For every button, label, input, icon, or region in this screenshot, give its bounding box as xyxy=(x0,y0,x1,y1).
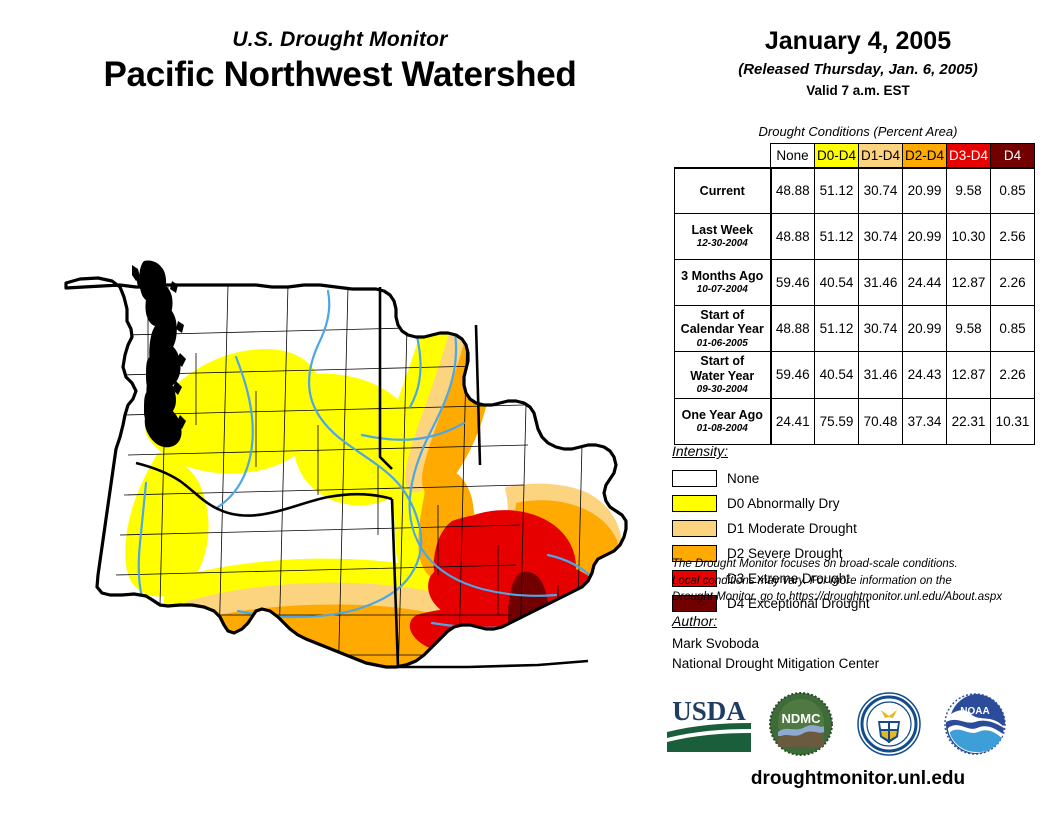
table-cell-d3-d4: 9.58 xyxy=(947,168,991,214)
table-column-header-none: None xyxy=(771,144,815,168)
table-row-label: One Year Ago01-08-2004 xyxy=(675,398,771,444)
table-row: One Year Ago01-08-200424.4175.5970.4837.… xyxy=(675,398,1035,444)
author-label: Author: xyxy=(672,613,717,629)
table-cell-d4: 0.85 xyxy=(991,168,1035,214)
table-cell-d1-d4: 31.46 xyxy=(859,260,903,306)
table-cell-none: 48.88 xyxy=(771,168,815,214)
table-cell-d1-d4: 70.48 xyxy=(859,398,903,444)
legend-column-left: NoneD0 Abnormally DryD1 Moderate Drought xyxy=(672,466,864,541)
table-cell-d0-d4: 51.12 xyxy=(815,214,859,260)
table-cell-none: 24.41 xyxy=(771,398,815,444)
table-cell-d4: 2.26 xyxy=(991,260,1035,306)
table-row-label: Start ofWater Year09-30-2004 xyxy=(675,352,771,398)
table-cell-d4: 2.56 xyxy=(991,214,1035,260)
table-corner-cell xyxy=(675,144,771,168)
table-cell-d0-d4: 51.12 xyxy=(815,168,859,214)
table-cell-none: 59.46 xyxy=(771,352,815,398)
table-cell-d3-d4: 22.31 xyxy=(947,398,991,444)
legend-swatch xyxy=(672,520,717,537)
author-org: National Drought Mitigation Center xyxy=(672,654,1056,674)
agency-logos: USDA NDMC xyxy=(665,692,1056,758)
table-cell-d3-d4: 9.58 xyxy=(947,306,991,352)
table-cell-d1-d4: 30.74 xyxy=(859,214,903,260)
legend-item: D1 Moderate Drought xyxy=(672,516,864,541)
table-cell-d0-d4: 40.54 xyxy=(815,352,859,398)
table-cell-d1-d4: 30.74 xyxy=(859,168,903,214)
table-cell-d3-d4: 10.30 xyxy=(947,214,991,260)
row-label-date: 09-30-2004 xyxy=(679,384,766,396)
row-label-name: One Year Ago xyxy=(679,408,766,422)
legend-item: D0 Abnormally Dry xyxy=(672,491,864,516)
author-name: Mark Svoboda xyxy=(672,634,1056,654)
table-body: Current48.8851.1230.7420.999.580.85Last … xyxy=(675,168,1035,445)
release-date: (Released Thursday, Jan. 6, 2005) xyxy=(660,61,1056,78)
usdc-logo xyxy=(857,692,921,756)
table-header-row: NoneD0-D4D1-D4D2-D4D3-D4D4 xyxy=(675,144,1035,168)
table-cell-d0-d4: 51.12 xyxy=(815,306,859,352)
date-block: January 4, 2005 (Released Thursday, Jan.… xyxy=(660,28,1056,98)
table-cell-d0-d4: 40.54 xyxy=(815,260,859,306)
table-row-label: 3 Months Ago10-07-2004 xyxy=(675,260,771,306)
row-label-date: 10-07-2004 xyxy=(679,284,766,296)
table-row: Start ofCalendar Year01-06-200548.8851.1… xyxy=(675,306,1035,352)
table-row: Current48.8851.1230.7420.999.580.85 xyxy=(675,168,1035,214)
table-cell-none: 48.88 xyxy=(771,306,815,352)
table-cell-d4: 2.26 xyxy=(991,352,1035,398)
table-column-header-d3-d4: D3-D4 xyxy=(947,144,991,168)
table-cell-d2-d4: 24.44 xyxy=(903,260,947,306)
table-row: Start ofWater Year09-30-200459.4640.5431… xyxy=(675,352,1035,398)
legend-swatch xyxy=(672,495,717,512)
legend-label: D1 Moderate Drought xyxy=(727,521,857,536)
drought-monitor-page: U.S. Drought Monitor Pacific Northwest W… xyxy=(0,0,1056,816)
table-column-header-d2-d4: D2-D4 xyxy=(903,144,947,168)
ndmc-logo: NDMC xyxy=(769,692,833,756)
table-row-label: Start ofCalendar Year01-06-2005 xyxy=(675,306,771,352)
row-label-name: 3 Months Ago xyxy=(679,269,766,283)
footer-url: droughtmonitor.unl.edu xyxy=(660,768,1056,790)
table-cell-d2-d4: 20.99 xyxy=(903,306,947,352)
table-cell-d2-d4: 37.34 xyxy=(903,398,947,444)
legend-label: None xyxy=(727,471,759,486)
svg-text:NDMC: NDMC xyxy=(782,711,822,726)
legend-title: Intensity: xyxy=(672,443,728,459)
row-label-date: 12-30-2004 xyxy=(679,238,766,250)
table-caption: Drought Conditions (Percent Area) xyxy=(660,124,1056,139)
table-cell-none: 48.88 xyxy=(771,214,815,260)
valid-time: Valid 7 a.m. EST xyxy=(660,83,1056,98)
table-row: 3 Months Ago10-07-200459.4640.5431.4624.… xyxy=(675,260,1035,306)
legend-label: D0 Abnormally Dry xyxy=(727,496,840,511)
map-container xyxy=(28,225,668,705)
row-label-date: 01-08-2004 xyxy=(679,423,766,435)
row-label-name: Current xyxy=(679,184,766,198)
disclaimer-line-1: The Drought Monitor focuses on broad-sca… xyxy=(672,556,1056,573)
usda-logo: USDA xyxy=(665,692,753,756)
table-column-header-d4: D4 xyxy=(991,144,1035,168)
table-row-label: Last Week12-30-2004 xyxy=(675,214,771,260)
svg-text:NOAA: NOAA xyxy=(960,706,989,717)
table-cell-d1-d4: 31.46 xyxy=(859,352,903,398)
map-title-block: U.S. Drought Monitor Pacific Northwest W… xyxy=(30,28,650,95)
page-subtitle: U.S. Drought Monitor xyxy=(30,28,650,51)
table-cell-none: 59.46 xyxy=(771,260,815,306)
table-header: NoneD0-D4D1-D4D2-D4D3-D4D4 xyxy=(675,144,1035,168)
table-row: Last Week12-30-200448.8851.1230.7420.991… xyxy=(675,214,1035,260)
table-row-label: Current xyxy=(675,168,771,214)
row-label-name: Last Week xyxy=(679,223,766,237)
row-label-name: Start ofCalendar Year xyxy=(679,308,766,337)
table-cell-d2-d4: 20.99 xyxy=(903,214,947,260)
table-cell-d3-d4: 12.87 xyxy=(947,352,991,398)
table-cell-d4: 0.85 xyxy=(991,306,1035,352)
row-label-name: Start ofWater Year xyxy=(679,354,766,383)
row-label-date: 01-06-2005 xyxy=(679,338,766,350)
table-cell-d2-d4: 24.43 xyxy=(903,352,947,398)
legend-swatch xyxy=(672,470,717,487)
page-title: Pacific Northwest Watershed xyxy=(30,55,650,95)
svg-text:USDA: USDA xyxy=(672,696,746,726)
disclaimer-line-2: Local conditions may vary. For more info… xyxy=(672,573,1056,590)
table-cell-d3-d4: 12.87 xyxy=(947,260,991,306)
disclaimer-text: The Drought Monitor focuses on broad-sca… xyxy=(672,556,1056,606)
author-block: Mark Svoboda National Drought Mitigation… xyxy=(672,634,1056,675)
table-cell-d2-d4: 20.99 xyxy=(903,168,947,214)
disclaimer-line-3: Drought Monitor, go to https://droughtmo… xyxy=(672,589,1056,606)
table-cell-d0-d4: 75.59 xyxy=(815,398,859,444)
table-column-header-d1-d4: D1-D4 xyxy=(859,144,903,168)
noaa-logo: NOAA xyxy=(943,692,1007,756)
valid-date: January 4, 2005 xyxy=(660,28,1056,56)
table-cell-d4: 10.31 xyxy=(991,398,1035,444)
table-column-header-d0-d4: D0-D4 xyxy=(815,144,859,168)
drought-map-svg xyxy=(28,225,668,705)
table-cell-d1-d4: 30.74 xyxy=(859,306,903,352)
legend-item: None xyxy=(672,466,864,491)
drought-conditions-table: NoneD0-D4D1-D4D2-D4D3-D4D4 Current48.885… xyxy=(674,143,1035,445)
